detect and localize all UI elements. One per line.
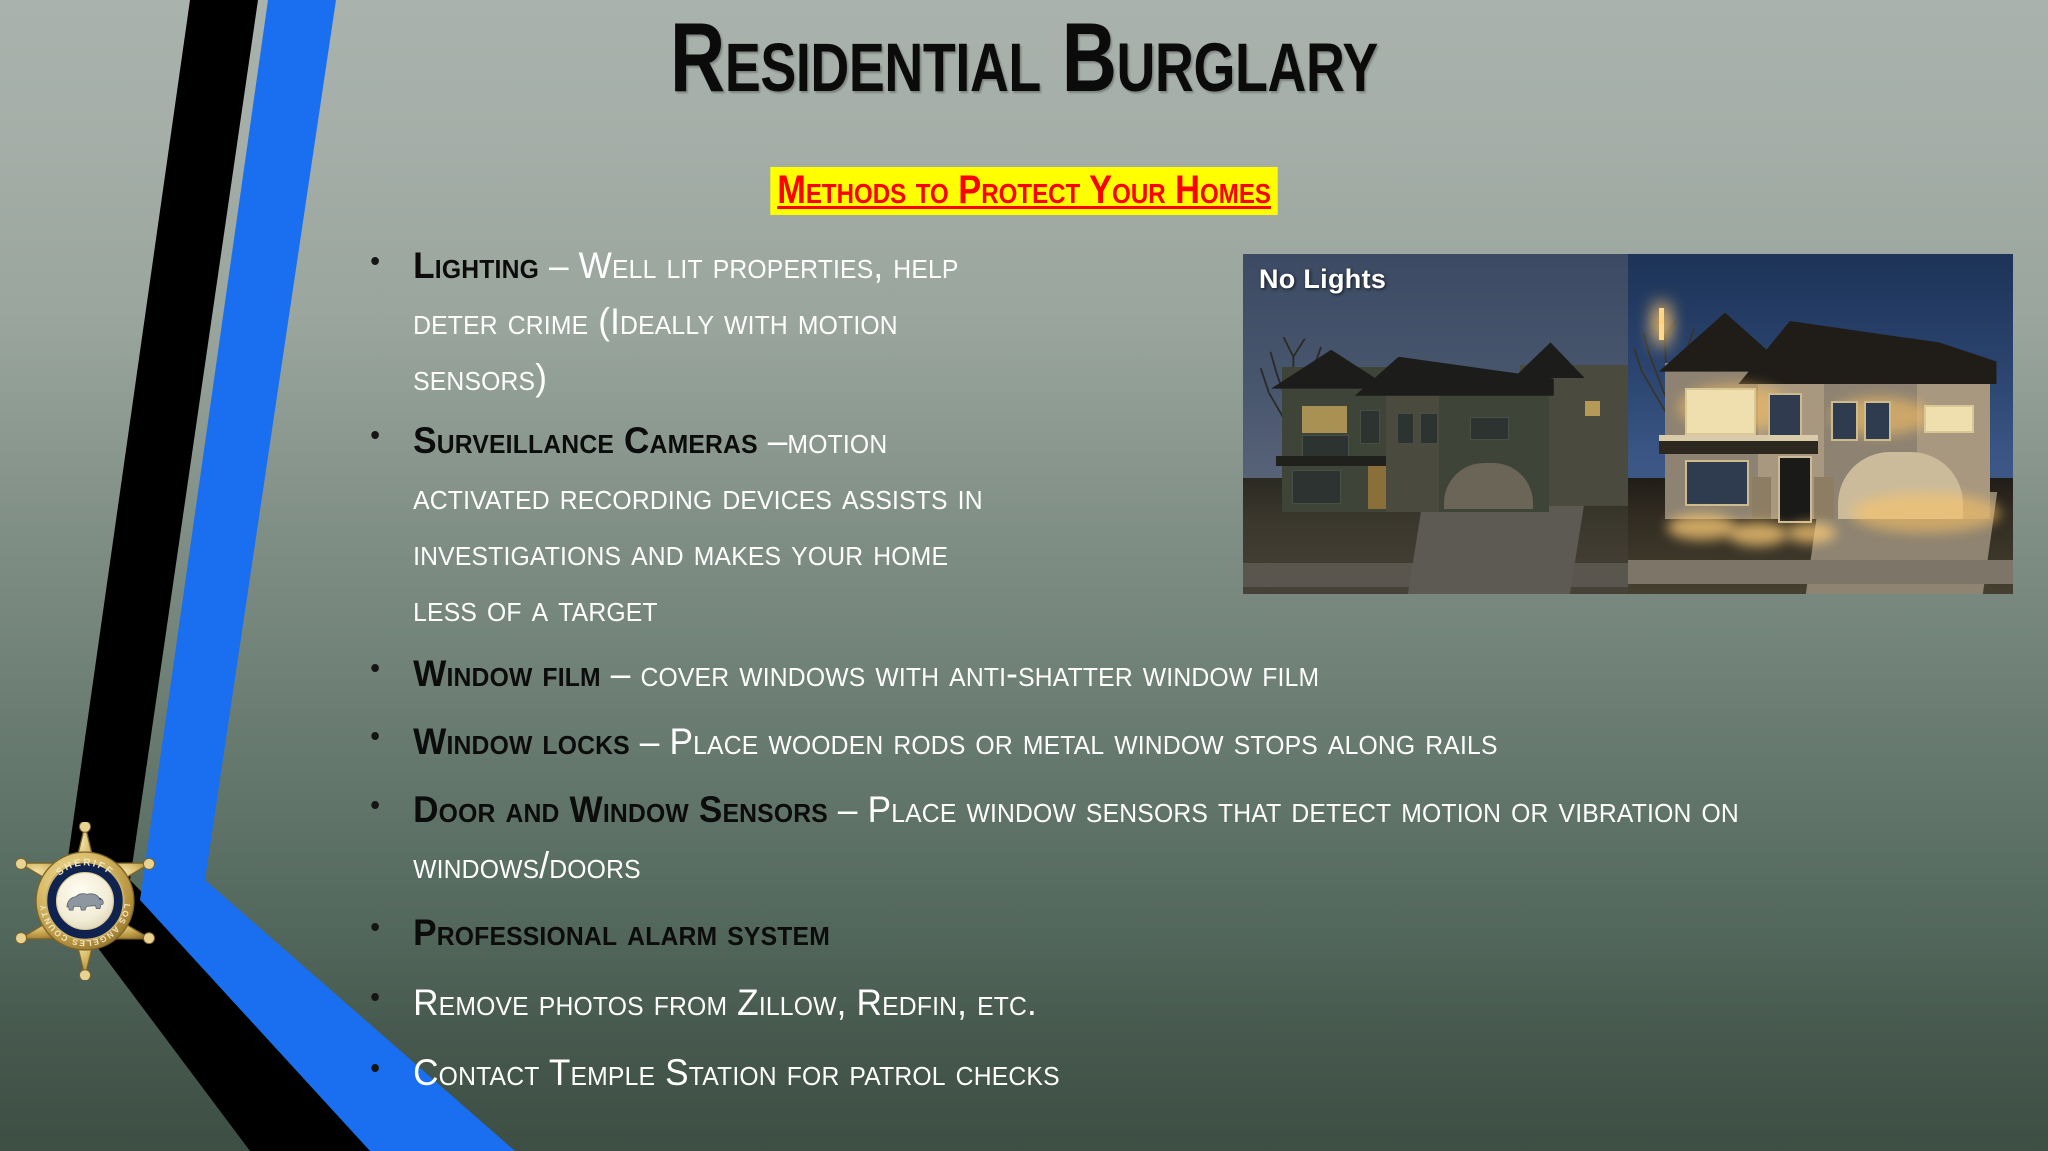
- sheriff-badge: SHERIFF · LOS ANGELES COUNTY ·: [6, 822, 164, 980]
- bullet-lead: Window film: [413, 653, 601, 694]
- slide-subtitle-row: Methods to Protect Your Homes: [0, 167, 2048, 215]
- photo-half-lit: [1628, 254, 2013, 594]
- bullet-rest: – Place wooden rods or metal window stop…: [630, 721, 1498, 762]
- bullet-dot-icon: [371, 664, 379, 672]
- slide-subtitle: Methods to Protect Your Homes: [770, 167, 1278, 215]
- list-item: Window locks – Place wooden rods or meta…: [358, 714, 1840, 770]
- bullet-rest: – cover windows with anti-shatter window…: [601, 653, 1319, 694]
- photo-caption-no-lights: No Lights: [1259, 264, 1386, 295]
- bullet-lead: Surveillance Cameras: [413, 420, 758, 461]
- bullet-rest: Remove photos from Zillow, Redfin, etc.: [413, 982, 1037, 1023]
- garage-coach-light: [1659, 308, 1664, 324]
- list-item: Window film – cover windows with anti-sh…: [358, 646, 1840, 702]
- bullet-lead: Professional alarm system: [413, 912, 830, 953]
- list-item: Lighting – Well lit properties, help det…: [358, 238, 1021, 407]
- main-house-unlit: [1282, 336, 1544, 513]
- bullet-lead: Door and Window Sensors: [413, 789, 828, 830]
- front-door: [1368, 466, 1386, 508]
- main-house-lit: [1659, 308, 1990, 519]
- list-item: Contact Temple Station for patrol checks: [358, 1045, 1840, 1101]
- list-item: Surveillance Cameras –motion activated r…: [358, 413, 1021, 638]
- sidewalk: [1628, 560, 2013, 584]
- bullet-dot-icon: [371, 732, 379, 740]
- bullet-lead: Window locks: [413, 721, 630, 762]
- driveway-wash: [1851, 493, 2001, 533]
- list-item: Remove photos from Zillow, Redfin, etc.: [358, 975, 1840, 1031]
- garage-coach-light: [1659, 324, 1664, 340]
- bullet-rest: Contact Temple Station for patrol checks: [413, 1052, 1060, 1093]
- landscape-uplight: [1667, 514, 1737, 540]
- slide-canvas: SHERIFF · LOS ANGELES COUNTY · Residenti…: [0, 0, 2048, 1151]
- list-item: Door and Window Sensors – Place window s…: [358, 782, 1840, 894]
- bullet-dot-icon: [371, 801, 379, 809]
- porch-shadow: [1276, 456, 1386, 467]
- house-lighting-comparison-photo: No Lights: [1243, 254, 2013, 594]
- photo-half-unlit: No Lights: [1243, 254, 1628, 594]
- bullet-dot-icon: [371, 257, 379, 265]
- front-door: [1778, 456, 1812, 523]
- slide-title: Residential Burglary: [225, 8, 1822, 106]
- bullet-dot-icon: [371, 993, 379, 1001]
- bullet-dot-icon: [371, 923, 379, 931]
- sidewalk: [1243, 563, 1628, 587]
- bullet-dot-icon: [371, 431, 379, 439]
- landscape-uplight: [1786, 523, 1836, 543]
- list-item: Professional alarm system: [358, 905, 1840, 961]
- bullet-lead: Lighting: [413, 245, 539, 286]
- bullet-dot-icon: [371, 1064, 379, 1072]
